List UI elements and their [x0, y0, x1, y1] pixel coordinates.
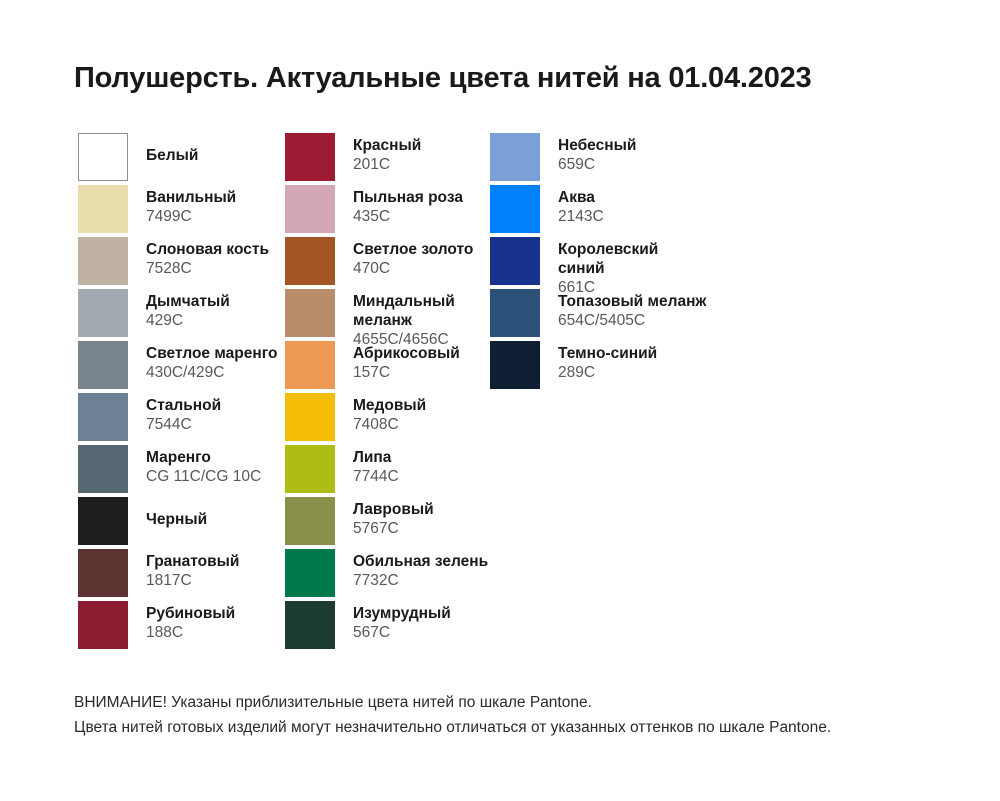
color-swatch: [285, 601, 335, 649]
swatch-labels: Обильная зелень7732C: [353, 549, 488, 590]
color-swatch: [78, 341, 128, 389]
swatch-labels: Слоновая кость7528C: [146, 237, 269, 278]
swatch-labels: МаренгоCG 11C/CG 10C: [146, 445, 261, 486]
pantone-code: 7499C: [146, 207, 236, 226]
swatch-labels: Светлое золото470C: [353, 237, 473, 278]
color-name: Светлое маренго: [146, 344, 277, 363]
page-title: Полушерсть. Актуальные цвета нитей на 01…: [74, 62, 811, 95]
swatch-labels: Медовый7408C: [353, 393, 426, 434]
color-name: Рубиновый: [146, 604, 235, 623]
color-name: Медовый: [353, 396, 426, 415]
swatch-labels: Черный: [146, 497, 207, 529]
pantone-code: 5767C: [353, 519, 434, 538]
swatch-row: Слоновая кость7528C: [78, 237, 285, 289]
pantone-code: 567C: [353, 623, 451, 642]
color-swatch: [78, 185, 128, 233]
swatch-labels: Рубиновый188C: [146, 601, 235, 642]
color-name: Королевский синий: [558, 240, 678, 278]
pantone-code: 7528C: [146, 259, 269, 278]
pantone-code: 470C: [353, 259, 473, 278]
swatch-row: Дымчатый429C: [78, 289, 285, 341]
color-swatch: [78, 497, 128, 545]
color-swatch: [78, 445, 128, 493]
swatch-columns: БелыйВанильный7499CСлоновая кость7528CДы…: [78, 133, 938, 653]
swatch-row: Рубиновый188C: [78, 601, 285, 653]
swatch-row: Ванильный7499C: [78, 185, 285, 237]
swatch-labels: Небесный659C: [558, 133, 636, 174]
color-swatch: [285, 497, 335, 545]
swatch-labels: Миндальный меланж4655C/4656C: [353, 289, 473, 349]
color-name: Липа: [353, 448, 399, 467]
pantone-code: CG 11C/CG 10C: [146, 467, 261, 486]
color-name: Пыльная роза: [353, 188, 463, 207]
swatch-row: Светлое золото470C: [285, 237, 490, 289]
color-name: Светлое золото: [353, 240, 473, 259]
color-swatch: [285, 445, 335, 493]
swatch-row: Миндальный меланж4655C/4656C: [285, 289, 490, 341]
swatch-labels: Пыльная роза435C: [353, 185, 463, 226]
pantone-code: 2143C: [558, 207, 604, 226]
swatch-row: Изумрудный567C: [285, 601, 490, 653]
swatch-labels: Гранатовый1817C: [146, 549, 239, 590]
color-swatch: [78, 601, 128, 649]
color-name: Небесный: [558, 136, 636, 155]
swatch-row: Медовый7408C: [285, 393, 490, 445]
color-name: Абрикосовый: [353, 344, 460, 363]
color-swatch: [490, 289, 540, 337]
swatch-labels: Ванильный7499C: [146, 185, 236, 226]
pantone-code: 429C: [146, 311, 230, 330]
color-swatch: [490, 185, 540, 233]
swatch-column-3: Небесный659CАква2143CКоролевский синий66…: [490, 133, 750, 653]
swatch-row: Небесный659C: [490, 133, 750, 185]
pantone-code: 7744C: [353, 467, 399, 486]
swatch-column-1: БелыйВанильный7499CСлоновая кость7528CДы…: [78, 133, 285, 653]
color-name: Белый: [146, 146, 198, 165]
color-name: Маренго: [146, 448, 261, 467]
color-name: Аква: [558, 188, 604, 207]
swatch-row: Пыльная роза435C: [285, 185, 490, 237]
color-swatch: [285, 289, 335, 337]
pantone-code: 654C/5405C: [558, 311, 706, 330]
swatch-labels: Красный201C: [353, 133, 421, 174]
swatch-labels: Абрикосовый157C: [353, 341, 460, 382]
pantone-code: 1817C: [146, 571, 239, 590]
swatch-labels: Светлое маренго430C/429C: [146, 341, 277, 382]
color-swatch: [490, 133, 540, 181]
swatch-row: Абрикосовый157C: [285, 341, 490, 393]
color-name: Топазовый меланж: [558, 292, 706, 311]
pantone-code: 188C: [146, 623, 235, 642]
swatch-row: Светлое маренго430C/429C: [78, 341, 285, 393]
swatch-labels: Топазовый меланж654C/5405C: [558, 289, 706, 330]
pantone-code: 7732C: [353, 571, 488, 590]
color-name: Красный: [353, 136, 421, 155]
swatch-row: Темно-синий289C: [490, 341, 750, 393]
swatch-labels: Дымчатый429C: [146, 289, 230, 330]
color-swatch: [78, 393, 128, 441]
swatch-labels: Темно-синий289C: [558, 341, 657, 382]
footer-line-2: Цвета нитей готовых изделий могут незнач…: [74, 715, 831, 740]
pantone-code: 7408C: [353, 415, 426, 434]
color-name: Черный: [146, 510, 207, 529]
pantone-code: 435C: [353, 207, 463, 226]
pantone-code: 157C: [353, 363, 460, 382]
swatch-row: Аква2143C: [490, 185, 750, 237]
pantone-code: 659C: [558, 155, 636, 174]
color-name: Лавровый: [353, 500, 434, 519]
color-swatch: [285, 341, 335, 389]
swatch-labels: Стальной7544C: [146, 393, 221, 434]
swatch-row: Черный: [78, 497, 285, 549]
color-swatch: [78, 289, 128, 337]
pantone-code: 7544C: [146, 415, 221, 434]
color-name: Обильная зелень: [353, 552, 488, 571]
swatch-labels: Липа7744C: [353, 445, 399, 486]
swatch-labels: Королевский синий661C: [558, 237, 678, 297]
color-swatch: [285, 133, 335, 181]
swatch-column-2: Красный201CПыльная роза435CСветлое золот…: [285, 133, 490, 653]
swatch-row: Обильная зелень7732C: [285, 549, 490, 601]
swatch-labels: Аква2143C: [558, 185, 604, 226]
color-name: Гранатовый: [146, 552, 239, 571]
swatch-row: Белый: [78, 133, 285, 185]
swatch-row: Гранатовый1817C: [78, 549, 285, 601]
swatch-labels: Белый: [146, 133, 198, 165]
color-swatch: [285, 393, 335, 441]
color-name: Слоновая кость: [146, 240, 269, 259]
swatch-row: Королевский синий661C: [490, 237, 750, 289]
color-swatch: [78, 237, 128, 285]
swatch-row: Красный201C: [285, 133, 490, 185]
pantone-code: 289C: [558, 363, 657, 382]
swatch-row: Лавровый5767C: [285, 497, 490, 549]
pantone-code: 201C: [353, 155, 421, 174]
color-swatch: [285, 237, 335, 285]
footer-line-1: ВНИМАНИЕ! Указаны приблизительные цвета …: [74, 690, 831, 715]
color-name: Миндальный меланж: [353, 292, 473, 330]
swatch-row: Стальной7544C: [78, 393, 285, 445]
color-name: Дымчатый: [146, 292, 230, 311]
swatch-row: МаренгоCG 11C/CG 10C: [78, 445, 285, 497]
color-swatch: [490, 237, 540, 285]
color-name: Ванильный: [146, 188, 236, 207]
pantone-code: 430C/429C: [146, 363, 277, 382]
color-name: Темно-синий: [558, 344, 657, 363]
color-swatch: [78, 549, 128, 597]
footer-note: ВНИМАНИЕ! Указаны приблизительные цвета …: [74, 690, 831, 740]
color-swatch: [285, 549, 335, 597]
color-swatch: [285, 185, 335, 233]
color-name: Стальной: [146, 396, 221, 415]
swatch-labels: Лавровый5767C: [353, 497, 434, 538]
color-swatch: [78, 133, 128, 181]
color-swatch: [490, 341, 540, 389]
swatch-row: Топазовый меланж654C/5405C: [490, 289, 750, 341]
swatch-row: Липа7744C: [285, 445, 490, 497]
color-name: Изумрудный: [353, 604, 451, 623]
color-palette-page: Полушерсть. Актуальные цвета нитей на 01…: [0, 0, 1000, 801]
swatch-labels: Изумрудный567C: [353, 601, 451, 642]
